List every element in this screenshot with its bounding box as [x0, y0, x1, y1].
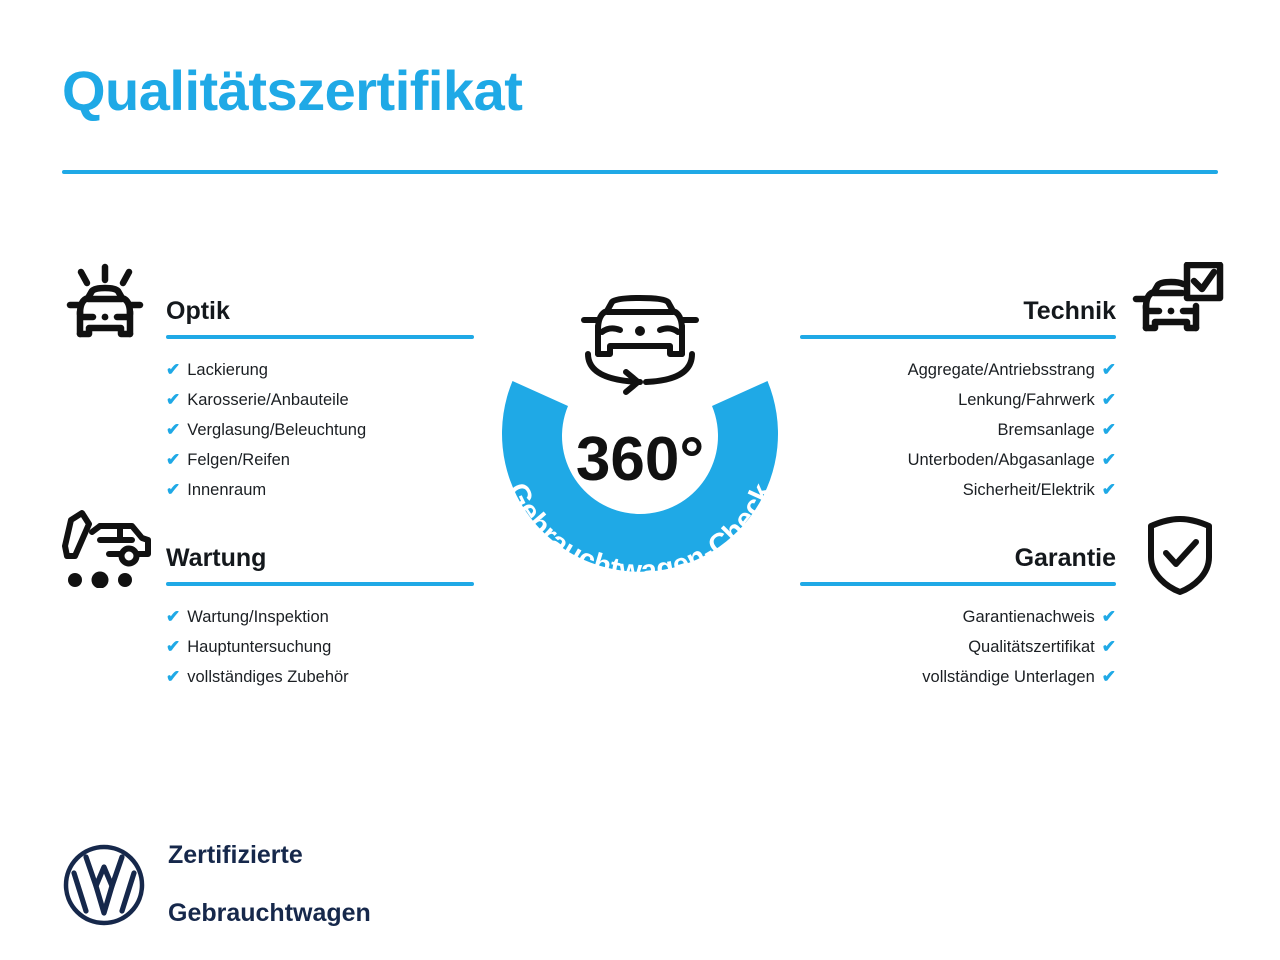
list-item-label: Felgen/Reifen	[187, 445, 290, 475]
section-optik: Optik ✔Lackierung ✔Karosserie/Anbauteile…	[166, 298, 474, 505]
page-title: Qualitätszertifikat	[62, 62, 522, 121]
check-icon: ✔	[1102, 668, 1116, 685]
list-item: Sicherheit/Elektrik✔	[800, 475, 1116, 505]
list-item: ✔Verglasung/Beleuchtung	[166, 415, 474, 445]
check-icon: ✔	[166, 451, 180, 468]
list-item-label: Aggregate/Antriebsstrang	[908, 355, 1095, 385]
list-item-label: Unterboden/Abgasanlage	[908, 445, 1095, 475]
check-icon: ✔	[166, 638, 180, 655]
list-item-label: Garantienachweis	[963, 602, 1095, 632]
list-item-label: Wartung/Inspektion	[187, 602, 329, 632]
list-item: ✔vollständiges Zubehör	[166, 662, 474, 692]
badge-center-label: 360°	[576, 425, 704, 494]
check-icon: ✔	[166, 481, 180, 498]
volkswagen-lockup-text: Zertifizierte Gebrauchtwagen	[168, 812, 371, 957]
list-item-label: Innenraum	[187, 475, 266, 505]
badge-360-gebrauchtwagen-check: 360° Gebrauchtwagen-Check	[450, 248, 830, 628]
section-list-garantie: Garantienachweis✔ Qualitätszertifikat✔ v…	[800, 602, 1116, 692]
list-item: ✔Lackierung	[166, 355, 474, 385]
list-item: Unterboden/Abgasanlage✔	[800, 445, 1116, 475]
car-checkbox-icon	[1132, 262, 1224, 347]
check-icon: ✔	[1102, 608, 1116, 625]
list-item: vollständige Unterlagen✔	[800, 662, 1116, 692]
check-icon: ✔	[1102, 451, 1116, 468]
check-icon: ✔	[166, 391, 180, 408]
list-item-label: Karosserie/Anbauteile	[187, 385, 348, 415]
list-item-label: Bremsanlage	[998, 415, 1095, 445]
lockup-line-2: Gebrauchtwagen	[168, 899, 371, 928]
section-garantie: Garantie Garantienachweis✔ Qualitätszert…	[800, 545, 1116, 692]
section-divider-wartung	[166, 582, 474, 586]
list-item: Bremsanlage✔	[800, 415, 1116, 445]
check-icon: ✔	[166, 608, 180, 625]
check-icon: ✔	[1102, 361, 1116, 378]
list-item: ✔Innenraum	[166, 475, 474, 505]
shield-check-icon	[1142, 513, 1218, 602]
section-divider-garantie	[800, 582, 1116, 586]
list-item-label: Lackierung	[187, 355, 268, 385]
section-list-optik: ✔Lackierung ✔Karosserie/Anbauteile ✔Verg…	[166, 355, 474, 505]
section-title-wartung: Wartung	[166, 545, 474, 573]
list-item-label: vollständige Unterlagen	[922, 662, 1094, 692]
section-wartung: Wartung ✔Wartung/Inspektion ✔Hauptunters…	[166, 545, 474, 692]
check-icon: ✔	[1102, 391, 1116, 408]
section-list-wartung: ✔Wartung/Inspektion ✔Hauptuntersuchung ✔…	[166, 602, 474, 692]
check-icon: ✔	[166, 668, 180, 685]
list-item-label: Hauptuntersuchung	[187, 632, 331, 662]
check-icon: ✔	[1102, 421, 1116, 438]
list-item-label: vollständiges Zubehör	[187, 662, 348, 692]
check-icon: ✔	[166, 361, 180, 378]
list-item: ✔Felgen/Reifen	[166, 445, 474, 475]
list-item: Lenkung/Fahrwerk✔	[800, 385, 1116, 415]
certificate-sheet: Qualitätszertifikat	[0, 0, 1280, 960]
volkswagen-lockup: Zertifizierte Gebrauchtwagen	[62, 812, 371, 957]
list-item: ✔Hauptuntersuchung	[166, 632, 474, 662]
section-divider-optik	[166, 335, 474, 339]
section-list-technik: Aggregate/Antriebsstrang✔ Lenkung/Fahrwe…	[800, 355, 1116, 505]
list-item-label: Lenkung/Fahrwerk	[958, 385, 1095, 415]
list-item-label: Qualitätszertifikat	[968, 632, 1095, 662]
check-icon: ✔	[1102, 481, 1116, 498]
section-title-technik: Technik	[800, 298, 1116, 326]
list-item: Garantienachweis✔	[800, 602, 1116, 632]
check-icon: ✔	[166, 421, 180, 438]
list-item: Aggregate/Antriebsstrang✔	[800, 355, 1116, 385]
car-polish-icon	[62, 258, 148, 353]
section-technik: Technik Aggregate/Antriebsstrang✔ Lenkun…	[800, 298, 1116, 505]
list-item-label: Verglasung/Beleuchtung	[187, 415, 366, 445]
section-divider-technik	[800, 335, 1116, 339]
lockup-line-1: Zertifizierte	[168, 841, 371, 870]
car-service-tools-icon	[62, 508, 154, 593]
list-item: ✔Karosserie/Anbauteile	[166, 385, 474, 415]
list-item: ✔Wartung/Inspektion	[166, 602, 474, 632]
section-title-optik: Optik	[166, 298, 474, 326]
volkswagen-logo	[62, 843, 146, 927]
section-title-garantie: Garantie	[800, 545, 1116, 573]
list-item-label: Sicherheit/Elektrik	[963, 475, 1095, 505]
check-icon: ✔	[1102, 638, 1116, 655]
list-item: Qualitätszertifikat✔	[800, 632, 1116, 662]
header-divider	[62, 170, 1218, 174]
